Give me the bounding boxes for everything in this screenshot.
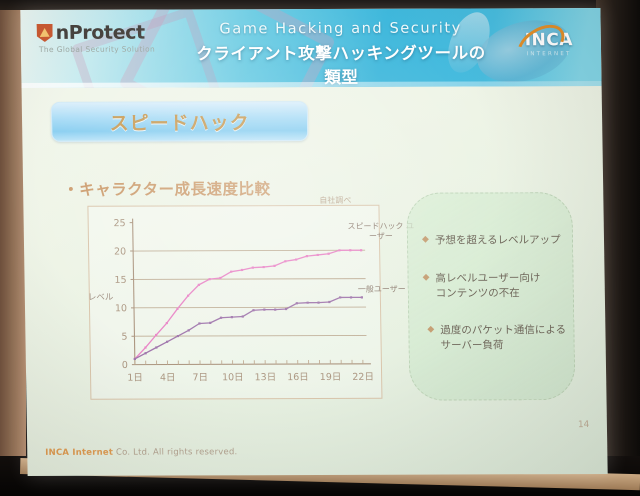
key-points-panel: ◆ 予想を超えるレベルアップ ◆ 高レベルユーザー向け コンテンツの不在 ◆ 過… (406, 192, 575, 401)
nprotect-logo-tagline: The Global Security Solution (39, 44, 197, 54)
slide-title-english: Game Hacking and Security (191, 20, 491, 37)
svg-text:20: 20 (114, 246, 126, 257)
shield-icon (37, 24, 53, 42)
diamond-bullet-icon: ◆ (422, 234, 429, 246)
bullet-text-2-line1: 高レベルユーザー向け (435, 272, 540, 284)
svg-text:0: 0 (122, 360, 128, 371)
svg-text:25: 25 (114, 218, 126, 229)
footer-rights: Co. Ltd. All rights reserved. (113, 447, 238, 457)
nprotect-logo-text: nProtect (56, 22, 145, 44)
diamond-bullet-icon: ◆ (422, 272, 429, 284)
svg-text:13日: 13日 (255, 372, 277, 383)
bullet-text-1: 予想を超えるレベルアップ (435, 233, 561, 249)
chart-y-axis-label: レベル (88, 291, 114, 303)
inca-logo: INCA INTERNET (513, 30, 585, 57)
slide-canvas: nProtect The Global Security Solution Ga… (20, 8, 607, 476)
footer-company: INCA Internet (45, 448, 113, 458)
chart-svg: 05101520251日4日7日10日13日16日19日22日 (88, 206, 381, 399)
diamond-bullet-icon: ◆ (427, 324, 434, 336)
projected-slide-photo: nProtect The Global Security Solution Ga… (0, 0, 640, 496)
nprotect-logo: nProtect The Global Security Solution (37, 21, 198, 54)
slide-title-japanese: クライアント攻撃ハッキングツールの類型 (191, 39, 492, 88)
bullet-text-3-line2: サーバー負荷 (440, 340, 503, 352)
svg-text:10: 10 (115, 303, 127, 314)
bullet-item-2: ◆ 高レベルユーザー向け コンテンツの不在 (422, 271, 568, 302)
slide-header-banner: nProtect The Global Security Solution Ga… (20, 8, 601, 88)
bullet-item-1: ◆ 予想を超えるレベルアップ (422, 233, 568, 249)
section-title-text: スピードハック (109, 108, 249, 135)
growth-speed-chart: 05101520251日4日7日10日13日16日19日22日 レベル スピード… (87, 205, 382, 400)
bullet-text-2-line2: コンテンツの不在 (436, 287, 520, 299)
svg-text:1日: 1日 (127, 373, 143, 384)
chart-heading: ・キャラクター成長速度比較 (63, 177, 271, 200)
bullet-item-3: ◆ 過度のパケット通信による サーバー負荷 (427, 323, 573, 354)
section-title-pill: スピードハック (51, 101, 309, 142)
svg-text:4日: 4日 (160, 372, 176, 383)
svg-text:15: 15 (114, 275, 126, 286)
svg-text:22日: 22日 (352, 372, 374, 383)
svg-text:19日: 19日 (320, 372, 342, 383)
svg-text:16日: 16日 (287, 372, 309, 383)
svg-text:5: 5 (121, 332, 127, 343)
svg-text:7日: 7日 (192, 372, 208, 383)
slide-footer: INCA Internet Co. Ltd. All rights reserv… (45, 447, 237, 458)
page-number: 14 (578, 420, 590, 430)
slide-title-group: Game Hacking and Security クライアント攻撃ハッキングツ… (191, 20, 492, 88)
bullet-text-3-line1: 過度のパケット通信による (440, 324, 566, 336)
bullet-text-2: 高レベルユーザー向け コンテンツの不在 (435, 271, 540, 302)
svg-text:10日: 10日 (222, 372, 244, 383)
bullet-text-3: 過度のパケット通信による サーバー負荷 (440, 323, 566, 354)
